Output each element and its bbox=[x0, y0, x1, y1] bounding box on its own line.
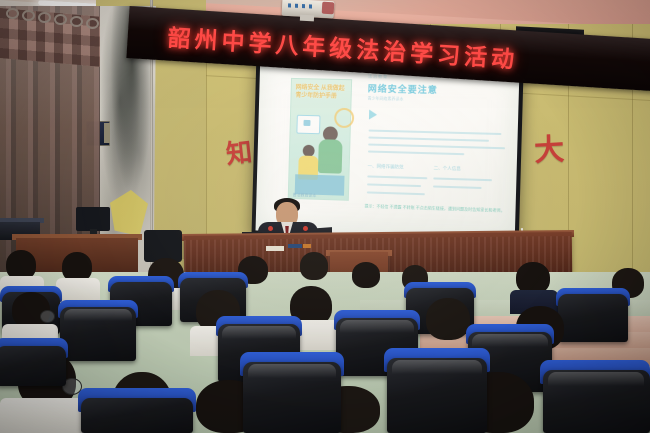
student-uniform bbox=[56, 278, 100, 302]
desk-object bbox=[288, 244, 302, 248]
projector-lens-icon bbox=[322, 2, 335, 15]
wall-calligraphy-char: 知 bbox=[224, 132, 254, 172]
slide-column-a: 一、网络诈骗防范 bbox=[368, 163, 404, 170]
student-head bbox=[300, 252, 328, 280]
slide-book-cover: 网络安全 从我做起 青少年防护手册 普法教育读本 bbox=[288, 78, 352, 201]
student-head bbox=[352, 262, 380, 288]
wall-speaker-bracket bbox=[104, 123, 110, 143]
student-head bbox=[426, 298, 470, 340]
slide-subtitle: 青少年网络素养读本 bbox=[367, 96, 403, 103]
curtain-ring-icon bbox=[38, 12, 51, 23]
auditorium-seat[interactable] bbox=[81, 398, 193, 433]
curtain-ring-icon bbox=[22, 10, 35, 21]
slide-tag: 法治教育 bbox=[368, 74, 388, 80]
slide-text-line bbox=[368, 137, 489, 142]
slide-text-line bbox=[367, 175, 427, 179]
slide-text-line bbox=[433, 185, 482, 189]
curtain-ring-icon bbox=[6, 8, 19, 19]
slide-book-title: 网络安全 从我做起 青少年防护手册 bbox=[295, 84, 347, 101]
seat-highlight bbox=[222, 326, 296, 339]
slide-illustration-ring bbox=[334, 108, 354, 128]
slide-illustration-screen-glyph bbox=[303, 120, 310, 126]
slide-column-b: 二、个人信息 bbox=[434, 165, 461, 172]
seat-highlight bbox=[248, 364, 336, 378]
slide-text-line bbox=[367, 183, 421, 187]
seat-highlight bbox=[392, 360, 482, 374]
slide-text-line bbox=[369, 130, 502, 135]
control-monitor bbox=[76, 207, 110, 231]
seat-highlight bbox=[64, 309, 132, 321]
student-glasses-icon bbox=[40, 310, 55, 323]
projector-mount bbox=[300, 15, 314, 22]
seat-highlight bbox=[548, 372, 644, 386]
curtain-ring-icon bbox=[86, 18, 99, 29]
curtain-ring-icon bbox=[70, 16, 83, 27]
wall-calligraphy-char: 大 bbox=[533, 124, 565, 170]
play-icon[interactable] bbox=[369, 110, 377, 120]
slide-text-line bbox=[368, 144, 505, 150]
slide-footer-note: 提示：不轻信 不透露 不转账 不点击陌生链接，遇到问题及时告知家长和老师。 bbox=[364, 203, 505, 214]
presenter-collar-emblem bbox=[268, 226, 273, 231]
slide-illustration-adult-body bbox=[318, 139, 343, 173]
auditorium-seat[interactable] bbox=[0, 346, 66, 386]
seat-highlight bbox=[472, 334, 548, 347]
curtain-ring-icon bbox=[54, 14, 67, 25]
auditorium-seat[interactable] bbox=[558, 294, 628, 342]
seat-highlight bbox=[340, 320, 414, 333]
desk-object bbox=[303, 244, 311, 248]
auditorium-photo: 知 行 弘 大 网络安全 从我做起 青少年防护手册 普法教育读本 法治教育 网络… bbox=[0, 0, 650, 433]
slide-book-caption: 普法教育读本 bbox=[293, 192, 317, 199]
slide-headline: 网络安全要注意 bbox=[368, 82, 438, 97]
slide-text-line bbox=[367, 191, 425, 195]
desk-papers bbox=[266, 246, 284, 251]
slide-text-line bbox=[433, 177, 492, 181]
slide-text-line bbox=[368, 150, 464, 155]
